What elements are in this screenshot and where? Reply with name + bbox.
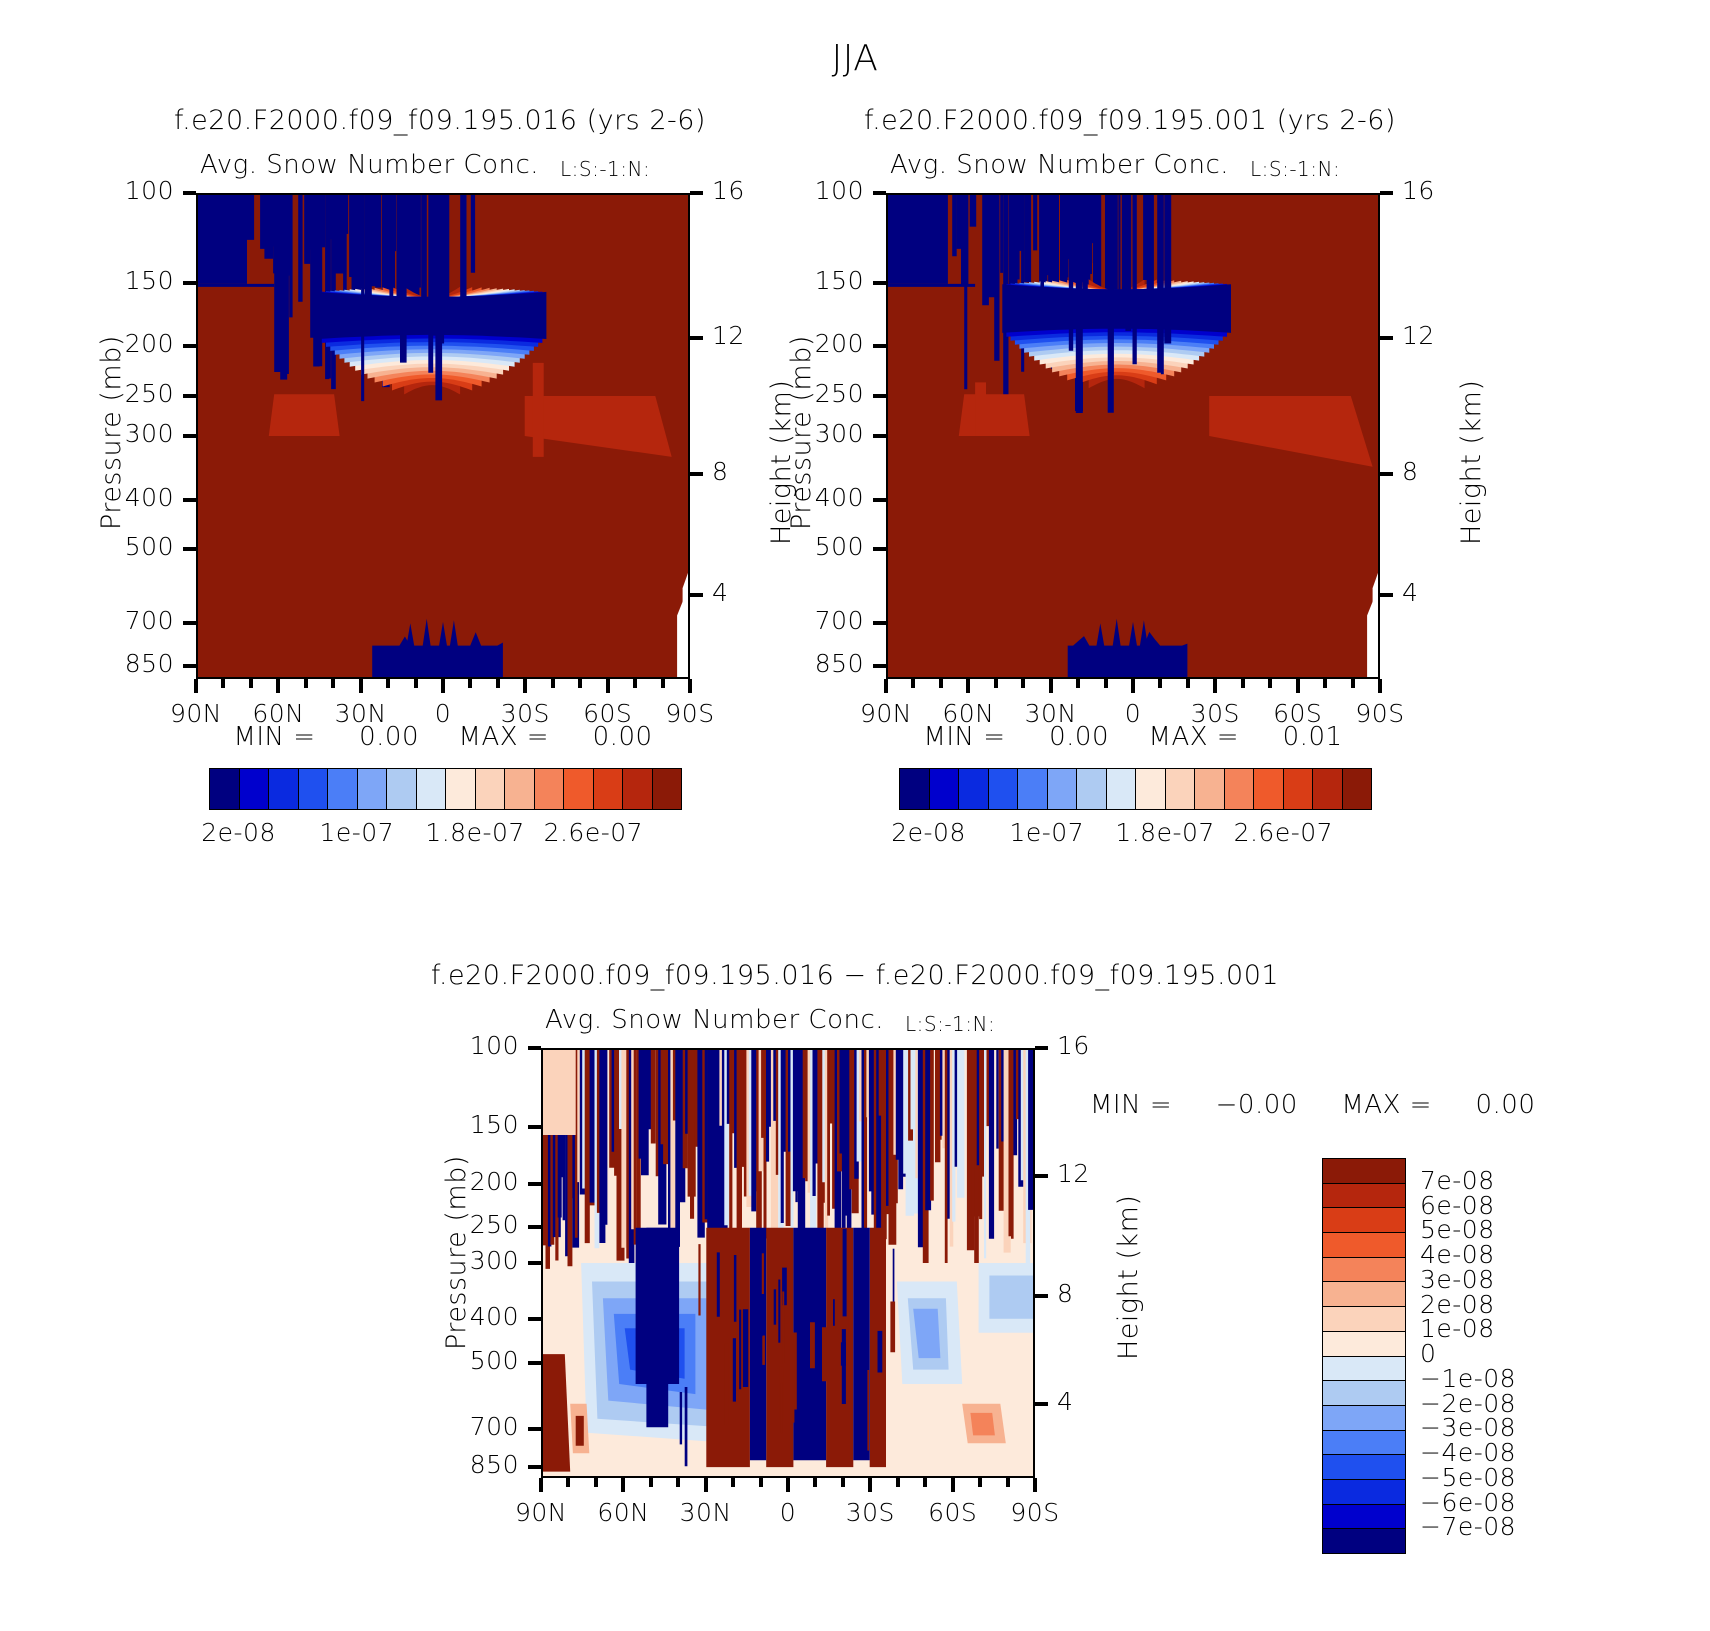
- colorbar-tick-label: −7e-08: [1420, 1512, 1516, 1541]
- diff-colorbar-ticks: 7e-086e-085e-084e-083e-082e-081e-080−1e-…: [0, 0, 1710, 1631]
